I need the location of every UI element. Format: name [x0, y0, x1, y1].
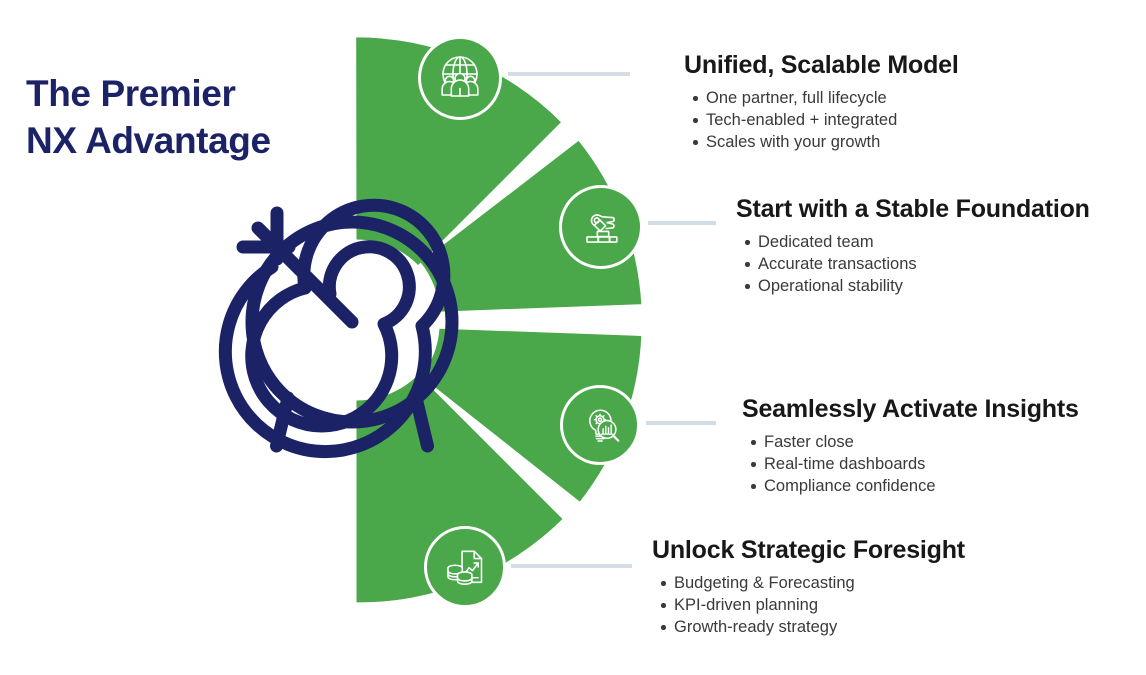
icon-badge-unified-scalable-model[interactable] — [418, 36, 502, 120]
text-group-strategic-foresight: Unlock Strategic Foresight Budgeting & F… — [652, 535, 965, 638]
group-bullets-activate-insights: Faster close Real-time dashboards Compli… — [742, 431, 1079, 497]
list-item: One partner, full lifecycle — [706, 87, 959, 109]
group-heading-stable-foundation: Start with a Stable Foundation — [736, 194, 1090, 224]
list-item: Tech-enabled + integrated — [706, 109, 959, 131]
globe-with-team-icon — [434, 52, 486, 104]
list-item: Compliance confidence — [764, 475, 1079, 497]
text-group-activate-insights: Seamlessly Activate Insights Faster clos… — [742, 394, 1079, 497]
text-group-unified-scalable-model: Unified, Scalable Model One partner, ful… — [684, 50, 959, 153]
list-item: Faster close — [764, 431, 1079, 453]
list-item: KPI-driven planning — [674, 594, 965, 616]
icon-badge-strategic-foresight[interactable] — [424, 526, 506, 608]
group-heading-activate-insights: Seamlessly Activate Insights — [742, 394, 1079, 424]
connector-line-strategic-foresight — [511, 564, 632, 568]
lightbulb-gear-magnifier-chart-icon — [575, 400, 625, 450]
icon-badge-stable-foundation[interactable] — [559, 185, 643, 269]
infographic-canvas: The Premier NX Advantage — [0, 0, 1146, 675]
connector-line-stable-foundation — [648, 221, 716, 225]
group-heading-unified-scalable-model: Unified, Scalable Model — [684, 50, 959, 80]
list-item: Growth-ready strategy — [674, 616, 965, 638]
text-group-stable-foundation: Start with a Stable Foundation Dedicated… — [736, 194, 1090, 297]
hand-laying-brick-icon — [575, 201, 627, 253]
group-heading-strategic-foresight: Unlock Strategic Foresight — [652, 535, 965, 565]
list-item: Operational stability — [758, 275, 1090, 297]
target-with-dart-icon — [225, 205, 452, 451]
group-bullets-strategic-foresight: Budgeting & Forecasting KPI-driven plann… — [652, 572, 965, 638]
list-item: Accurate transactions — [758, 253, 1090, 275]
list-item: Real-time dashboards — [764, 453, 1079, 475]
connector-line-activate-insights — [646, 421, 716, 425]
group-bullets-stable-foundation: Dedicated team Accurate transactions Ope… — [736, 231, 1090, 297]
list-item: Scales with your growth — [706, 131, 959, 153]
list-item: Budgeting & Forecasting — [674, 572, 965, 594]
list-item: Dedicated team — [758, 231, 1090, 253]
icon-badge-activate-insights[interactable] — [560, 385, 640, 465]
connector-line-unified-scalable-model — [508, 72, 630, 76]
coins-document-growth-chart-icon — [440, 542, 491, 593]
radial-petal-diagram — [0, 0, 1146, 675]
group-bullets-unified-scalable-model: One partner, full lifecycle Tech-enabled… — [684, 87, 959, 153]
